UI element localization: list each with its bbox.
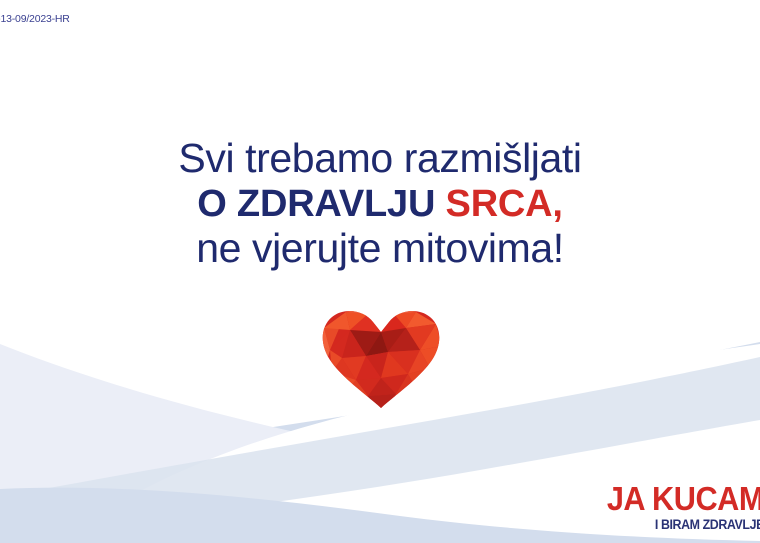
headline-line-2-navy: O ZDRAVLJU xyxy=(197,183,445,225)
background-waves xyxy=(0,0,760,543)
headline-line-2: O ZDRAVLJU SRCA, xyxy=(0,185,760,223)
headline-line-2-red: SRCA, xyxy=(446,183,563,225)
headline-line-3: ne vjerujte mitovima! xyxy=(0,228,760,269)
heart-graphic xyxy=(316,306,446,410)
campaign-banner: AR-13-09/2023-HR Svi trebamo razmišljati… xyxy=(0,0,760,543)
logo-subtitle-text: I BIRAM ZDRAVLJE xyxy=(609,518,760,532)
headline-block: Svi trebamo razmišljati O ZDRAVLJU SRCA,… xyxy=(0,138,760,269)
campaign-logo: JA KUCAM I BIRAM ZDRAVLJE xyxy=(595,482,760,532)
headline-line-1: Svi trebamo razmišljati xyxy=(0,138,760,179)
logo-main-text: JA KUCAM xyxy=(607,482,760,515)
low-poly-heart-icon xyxy=(316,306,446,410)
reference-code: AR-13-09/2023-HR xyxy=(0,13,70,25)
